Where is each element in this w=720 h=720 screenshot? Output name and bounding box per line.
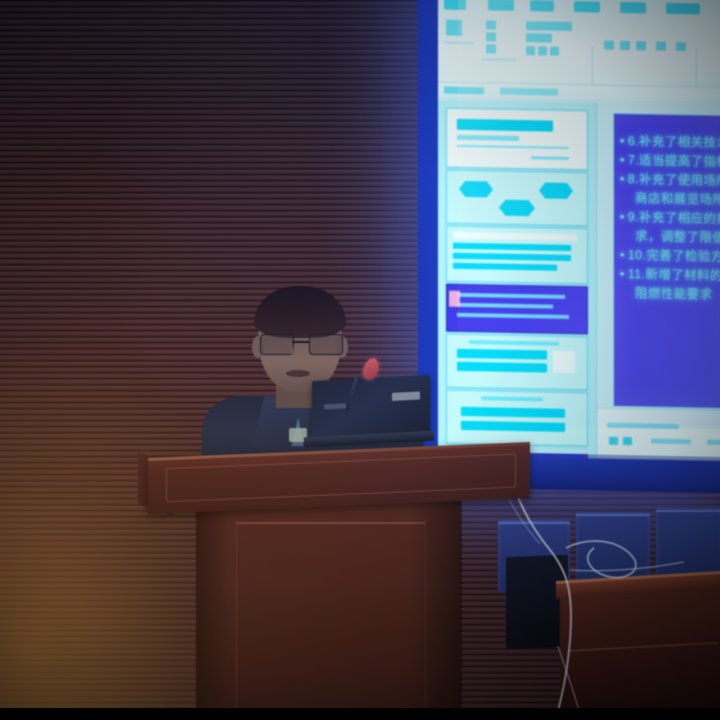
thumb-shape-right	[539, 182, 573, 199]
ribbon-line-1	[444, 42, 474, 45]
projected-application-window: •6.补充了相关技术要求 •7.适当提高了指标值 •8.补充了使用场所的要求 商…	[438, 0, 720, 461]
thumb6-row-2	[461, 421, 565, 432]
lectern-top-groove	[166, 454, 516, 503]
slide-bullet-11: •11.新增了材料的	[620, 265, 720, 286]
thumb-table-row-1	[453, 243, 571, 251]
thumb5-title	[469, 340, 559, 346]
bullet-dot-icon: •	[620, 170, 625, 189]
thumb-title-bar	[457, 119, 553, 132]
bullet-dot-icon: •	[620, 265, 625, 284]
slide-bullet-7: •7.适当提高了指标值	[620, 151, 720, 172]
ribbon-button-copy[interactable]	[486, 32, 496, 41]
ribbon-tab-design[interactable]	[574, 1, 600, 12]
ribbon-button-arrange[interactable]	[676, 42, 686, 51]
laptop-sticker	[324, 403, 346, 409]
ribbon-button-align-left[interactable]	[604, 41, 614, 50]
cell-reference-box[interactable]	[444, 87, 484, 95]
slide-thumbnail-4[interactable]	[446, 284, 588, 335]
ribbon-line-2	[482, 58, 516, 61]
ribbon-font-box[interactable]	[526, 21, 572, 31]
slide-thumbnail-5[interactable]	[446, 334, 588, 391]
ribbon-tab-animation[interactable]	[620, 2, 646, 13]
ribbon-button-italic[interactable]	[538, 46, 547, 55]
formula-input[interactable]	[500, 88, 558, 96]
slide-bullet-9-continuation: 求，调整了限值要求	[620, 227, 720, 248]
thumb-line-bar	[457, 145, 569, 149]
thumb-subtitle-bar	[457, 135, 519, 141]
ribbon-tab-insert[interactable]	[530, 0, 554, 11]
slide-bullet-8: •8.补充了使用场所的要求	[620, 170, 720, 191]
status-left-text	[607, 423, 679, 429]
thumb-shape-left	[459, 181, 493, 198]
thumb-dark-line-1	[457, 293, 565, 299]
gooseneck-microphone	[352, 358, 398, 414]
ribbon-fontsize-box[interactable]	[526, 33, 552, 42]
thumb5-row-2	[457, 362, 547, 373]
slide-thumbnail-1[interactable]	[446, 108, 588, 171]
slide-editing-pane[interactable]: •6.补充了相关技术要求 •7.适当提高了指标值 •8.补充了使用场所的要求 商…	[597, 102, 720, 460]
ribbon-button-cut[interactable]	[486, 20, 496, 29]
thumb6-row-1	[461, 407, 565, 418]
eyeglass-lens-left	[260, 334, 294, 355]
lectern-front-panel	[236, 522, 426, 712]
slide-thumbnail-3[interactable]	[446, 226, 588, 285]
thumb-dark-line-2	[457, 303, 553, 309]
thumb5-row-1	[457, 349, 547, 360]
projection-screen: •6.补充了相关技术要求 •7.适当提高了指标值 •8.补充了使用场所的要求 商…	[418, 0, 720, 493]
thumb-table-row-2	[453, 253, 571, 261]
ribbon-button-align-center[interactable]	[620, 41, 630, 50]
thumb-accent-block	[449, 291, 460, 307]
ribbon-tab-file[interactable]	[444, 0, 466, 10]
microphone-head-icon	[361, 356, 382, 381]
bullet-dot-icon: •	[620, 132, 625, 151]
slide-bullet-11-continuation: 阻燃性能要求	[620, 284, 720, 305]
slide-thumbnail-panel[interactable]	[438, 99, 597, 458]
ribbon-separator-2	[696, 48, 697, 90]
ribbon-tab-home[interactable]	[488, 0, 514, 11]
thumb6-title	[481, 396, 543, 401]
thumb-table-header	[453, 232, 577, 241]
speaker-mouth	[286, 370, 310, 377]
slide-thumbnail-2[interactable]	[446, 170, 588, 227]
bullet-dot-icon: •	[620, 208, 625, 227]
ribbon-button-format[interactable]	[486, 44, 496, 53]
bullet-dot-icon: •	[620, 246, 625, 265]
ribbon-button-bold[interactable]	[526, 46, 535, 55]
slide-bullet-8-continuation: 商店和展览场所等	[620, 189, 720, 210]
photo-scene: •6.补充了相关技术要求 •7.适当提高了指标值 •8.补充了使用场所的要求 商…	[0, 0, 720, 720]
speaker-hair	[254, 286, 346, 338]
ribbon-button-paste[interactable]	[446, 20, 462, 36]
thumb5-side	[553, 351, 575, 373]
bottom-letterbox-bar	[0, 708, 720, 720]
slide-bullet-10: •10.完善了检验方法	[620, 246, 720, 267]
thumb-footer-bar	[531, 156, 569, 160]
ribbon-tab-slideshow[interactable]	[666, 3, 700, 15]
eyeglass-bridge	[292, 341, 309, 343]
thumb-shape-center	[499, 200, 535, 217]
slide-bullet-9: •9.补充了相应的技术要	[620, 208, 720, 229]
speaker-nose	[291, 348, 303, 364]
ribbon-button-shapes[interactable]	[656, 42, 666, 51]
ribbon-separator-1	[592, 46, 593, 88]
slide-bullet-6: •6.补充了相关技术要求	[620, 132, 720, 153]
eyeglass-lens-right	[309, 334, 343, 355]
ribbon-button-align-right[interactable]	[636, 41, 646, 50]
ribbon-command-area	[442, 18, 720, 81]
active-slide-canvas[interactable]: •6.补充了相关技术要求 •7.适当提高了指标值 •8.补充了使用场所的要求 商…	[613, 113, 720, 409]
lectern-shadow-right	[410, 500, 462, 712]
lectern-shadow-left	[196, 500, 230, 712]
ribbon-button-underline[interactable]	[550, 47, 559, 56]
thumb-dark-line-3	[457, 313, 569, 319]
thumb-table-row-3	[453, 263, 557, 271]
app-ribbon	[438, 0, 720, 95]
slide-thumbnail-6[interactable]	[446, 390, 588, 447]
bullet-dot-icon: •	[620, 151, 625, 170]
